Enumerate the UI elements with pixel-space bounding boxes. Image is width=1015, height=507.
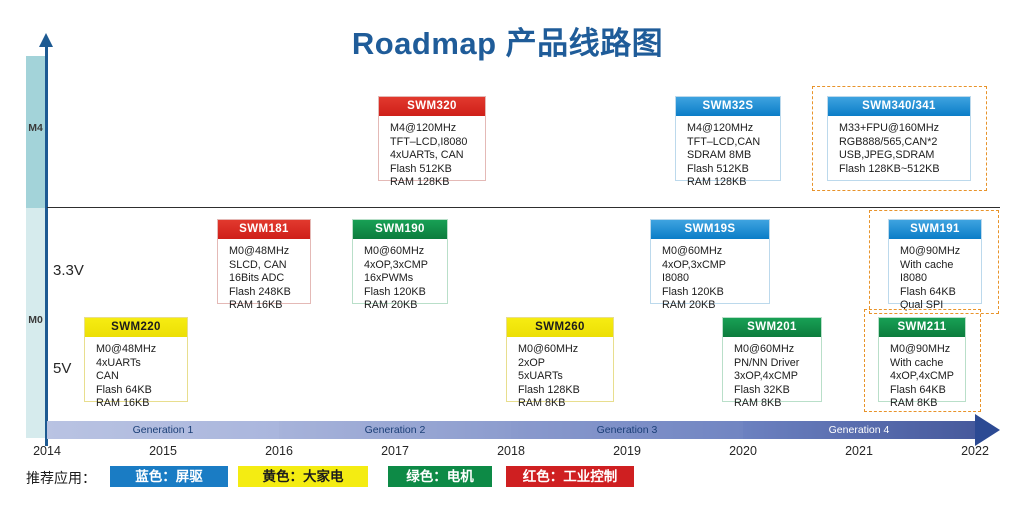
- legend-title: 推荐应用：: [26, 468, 96, 488]
- legend-item-yellow[interactable]: 黄色：大家电: [238, 466, 368, 487]
- chip-card-swm190[interactable]: SWM190M0@60MHz4xOP,3xCMP16xPWMsFlash 120…: [352, 219, 448, 304]
- chip-spec-line: SLCD, CAN: [229, 259, 310, 273]
- chip-spec-line: 16xPWMs: [364, 272, 447, 286]
- chip-spec-line: TFT–LCD,I8080: [390, 136, 485, 150]
- generation-bar: Generation 1Generation 2Generation 3Gene…: [47, 421, 975, 439]
- chip-spec-line: SDRAM 8MB: [687, 149, 780, 163]
- chip-card-title: SWM181: [218, 220, 310, 239]
- voltage-label-3v3: 3.3V: [53, 262, 84, 279]
- chip-card-specs: M0@48MHz4xUARTsCANFlash 64KBRAM 16KB: [85, 337, 187, 417]
- chip-card-title: SWM260: [507, 318, 613, 337]
- year-tick-2019: 2019: [597, 444, 657, 458]
- chip-card-swm32s[interactable]: SWM32SM4@120MHzTFT–LCD,CANSDRAM 8MBFlash…: [675, 96, 781, 181]
- year-tick-2021: 2021: [829, 444, 889, 458]
- timeline-arrow-icon: [975, 414, 1000, 446]
- chip-card-title: SWM340/341: [828, 97, 970, 116]
- chip-spec-line: Flash 128KB: [518, 384, 613, 398]
- chip-spec-line: M0@90MHz: [890, 343, 965, 357]
- chip-spec-line: CAN: [96, 370, 187, 384]
- chip-spec-line: 4xOP,3xCMP: [364, 259, 447, 273]
- chip-spec-line: M4@120MHz: [687, 122, 780, 136]
- generation-segment-2: Generation 2: [279, 421, 511, 439]
- chip-spec-line: RAM 20KB: [662, 299, 769, 313]
- chip-card-swm220[interactable]: SWM220M0@48MHz4xUARTsCANFlash 64KBRAM 16…: [84, 317, 188, 402]
- chip-spec-line: I8080: [900, 272, 981, 286]
- chip-card-specs: M0@60MHz4xOP,3xCMPI8080Flash 120KBRAM 20…: [651, 239, 769, 319]
- chip-spec-line: 4xOP,4xCMP: [890, 370, 965, 384]
- chip-spec-line: RAM 16KB: [229, 299, 310, 313]
- chip-spec-line: PN/NN Driver: [734, 357, 821, 371]
- chip-card-swm191[interactable]: SWM191M0@90MHzWith cacheI8080Flash 64KBQ…: [888, 219, 982, 304]
- core-label-m4: M4: [20, 122, 51, 134]
- chip-card-title: SWM201: [723, 318, 821, 337]
- chip-spec-line: Flash 32KB: [734, 384, 821, 398]
- chip-card-title: SWM190: [353, 220, 447, 239]
- legend-item-blue[interactable]: 蓝色：屏驱: [110, 466, 228, 487]
- legend-item-red[interactable]: 红色：工业控制: [506, 466, 634, 487]
- chip-card-specs: M33+FPU@160MHzRGB888/565,CAN*2USB,JPEG,S…: [828, 116, 970, 182]
- chip-spec-line: TFT–LCD,CAN: [687, 136, 780, 150]
- chip-card-specs: M0@90MHzWith cacheI8080Flash 64KBQual SP…: [889, 239, 981, 319]
- section-divider: [47, 207, 1000, 208]
- chip-card-title: SWM19S: [651, 220, 769, 239]
- legend-item-green[interactable]: 绿色：电机: [388, 466, 492, 487]
- chip-spec-line: Flash 64KB: [890, 384, 965, 398]
- chip-spec-line: RAM 8KB: [890, 397, 965, 411]
- y-axis-line: [45, 46, 48, 446]
- chip-spec-line: 4xUARTs, CAN: [390, 149, 485, 163]
- chip-card-swm201[interactable]: SWM201M0@60MHzPN/NN Driver3xOP,4xCMPFlas…: [722, 317, 822, 402]
- chip-spec-line: With cache: [890, 357, 965, 371]
- chip-spec-line: M0@48MHz: [229, 245, 310, 259]
- chip-card-title: SWM220: [85, 318, 187, 337]
- chip-card-title: SWM211: [879, 318, 965, 337]
- chip-spec-line: With cache: [900, 259, 981, 273]
- voltage-label-5v: 5V: [53, 360, 71, 377]
- chip-spec-line: M0@90MHz: [900, 245, 981, 259]
- chip-spec-line: M0@60MHz: [662, 245, 769, 259]
- chip-card-specs: M0@60MHz4xOP,3xCMP16xPWMsFlash 120KBRAM …: [353, 239, 447, 319]
- chip-spec-line: M0@60MHz: [734, 343, 821, 357]
- chip-card-title: SWM191: [889, 220, 981, 239]
- chip-spec-line: I8080: [662, 272, 769, 286]
- chip-card-specs: M0@60MHzPN/NN Driver3xOP,4xCMPFlash 32KB…: [723, 337, 821, 417]
- year-tick-2017: 2017: [365, 444, 425, 458]
- core-label-m0: M0: [20, 314, 51, 326]
- y-axis-arrow-icon: [39, 33, 53, 47]
- chip-spec-line: M0@60MHz: [518, 343, 613, 357]
- year-tick-2014: 2014: [17, 444, 77, 458]
- chip-spec-line: M33+FPU@160MHz: [839, 122, 970, 136]
- chip-card-swm340-341[interactable]: SWM340/341M33+FPU@160MHzRGB888/565,CAN*2…: [827, 96, 971, 181]
- chip-spec-line: RAM 128KB: [390, 176, 485, 190]
- chip-spec-line: RGB888/565,CAN*2: [839, 136, 970, 150]
- chip-spec-line: RAM 128KB: [687, 176, 780, 190]
- year-tick-2015: 2015: [133, 444, 193, 458]
- chip-spec-line: 5xUARTs: [518, 370, 613, 384]
- chip-spec-line: M0@48MHz: [96, 343, 187, 357]
- chip-card-swm181[interactable]: SWM181M0@48MHzSLCD, CAN16Bits ADCFlash 2…: [217, 219, 311, 304]
- chip-card-title: SWM32S: [676, 97, 780, 116]
- generation-segment-4: Generation 4: [743, 421, 975, 439]
- year-tick-2018: 2018: [481, 444, 541, 458]
- chip-spec-line: RAM 8KB: [734, 397, 821, 411]
- generation-segment-1: Generation 1: [47, 421, 279, 439]
- chip-spec-line: 4xOP,3xCMP: [662, 259, 769, 273]
- chip-spec-line: RAM 8KB: [518, 397, 613, 411]
- chip-card-swm19s[interactable]: SWM19SM0@60MHz4xOP,3xCMPI8080Flash 120KB…: [650, 219, 770, 304]
- roadmap-diagram: Roadmap 产品线路图 M4 M0 3.3V 5V SWM320M4@120…: [0, 0, 1015, 507]
- page-title: Roadmap 产品线路图: [0, 18, 1015, 63]
- chip-spec-line: Flash 120KB: [364, 286, 447, 300]
- chip-card-specs: M0@48MHzSLCD, CAN16Bits ADCFlash 248KBRA…: [218, 239, 310, 319]
- chip-spec-line: Flash 128KB~512KB: [839, 163, 970, 177]
- chip-card-swm320[interactable]: SWM320M4@120MHzTFT–LCD,I80804xUARTs, CAN…: [378, 96, 486, 181]
- year-tick-2022: 2022: [945, 444, 1005, 458]
- chip-card-specs: M4@120MHzTFT–LCD,CANSDRAM 8MBFlash 512KB…: [676, 116, 780, 196]
- chip-card-title: SWM320: [379, 97, 485, 116]
- chip-spec-line: 16Bits ADC: [229, 272, 310, 286]
- chip-spec-line: RAM 16KB: [96, 397, 187, 411]
- year-tick-2020: 2020: [713, 444, 773, 458]
- chip-spec-line: M4@120MHz: [390, 122, 485, 136]
- chip-spec-line: Flash 64KB: [900, 286, 981, 300]
- chip-spec-line: 4xUARTs: [96, 357, 187, 371]
- chip-spec-line: USB,JPEG,SDRAM: [839, 149, 970, 163]
- chip-card-swm211[interactable]: SWM211M0@90MHzWith cache4xOP,4xCMPFlash …: [878, 317, 966, 402]
- chip-card-specs: M4@120MHzTFT–LCD,I80804xUARTs, CANFlash …: [379, 116, 485, 196]
- chip-spec-line: Flash 512KB: [687, 163, 780, 177]
- chip-spec-line: Flash 120KB: [662, 286, 769, 300]
- chip-spec-line: RAM 20KB: [364, 299, 447, 313]
- chip-spec-line: M0@60MHz: [364, 245, 447, 259]
- chip-card-specs: M0@90MHzWith cache4xOP,4xCMPFlash 64KBRA…: [879, 337, 965, 417]
- year-tick-2016: 2016: [249, 444, 309, 458]
- generation-segment-3: Generation 3: [511, 421, 743, 439]
- chip-card-specs: M0@60MHz2xOP5xUARTsFlash 128KBRAM 8KB: [507, 337, 613, 417]
- chip-card-swm260[interactable]: SWM260M0@60MHz2xOP5xUARTsFlash 128KBRAM …: [506, 317, 614, 402]
- chip-spec-line: 3xOP,4xCMP: [734, 370, 821, 384]
- chip-spec-line: 2xOP: [518, 357, 613, 371]
- chip-spec-line: Flash 64KB: [96, 384, 187, 398]
- chip-spec-line: Flash 248KB: [229, 286, 310, 300]
- chip-spec-line: Flash 512KB: [390, 163, 485, 177]
